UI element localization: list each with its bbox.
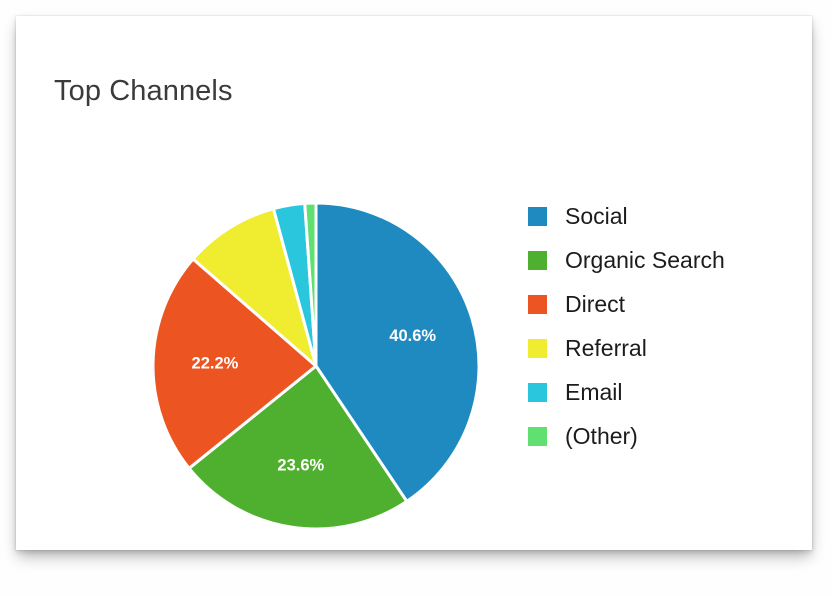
legend-item[interactable]: Direct <box>528 282 798 326</box>
legend-swatch-icon <box>528 383 547 402</box>
pie-chart-area: 40.6%23.6%22.2% SocialOrganic SearchDire… <box>16 16 812 550</box>
legend-item-label: Referral <box>565 337 647 360</box>
legend-item[interactable]: (Other) <box>528 414 798 458</box>
pie-slice-label: 22.2% <box>192 354 239 372</box>
legend-item-label: Social <box>565 205 628 228</box>
legend-item[interactable]: Social <box>528 194 798 238</box>
legend-item[interactable]: Organic Search <box>528 238 798 282</box>
legend-item-label: (Other) <box>565 425 638 448</box>
pie-chart-svg: 40.6%23.6%22.2% <box>152 202 480 530</box>
legend-item-label: Direct <box>565 293 625 316</box>
legend-item[interactable]: Referral <box>528 326 798 370</box>
chart-legend: SocialOrganic SearchDirectReferralEmail(… <box>528 194 798 458</box>
legend-item[interactable]: Email <box>528 370 798 414</box>
pie-chart: 40.6%23.6%22.2% <box>152 202 480 530</box>
pie-slice-label: 40.6% <box>389 327 436 345</box>
pie-slice-label: 23.6% <box>277 456 324 474</box>
legend-swatch-icon <box>528 295 547 314</box>
legend-item-label: Email <box>565 381 623 404</box>
legend-swatch-icon <box>528 339 547 358</box>
legend-swatch-icon <box>528 207 547 226</box>
report-page: Top Channels 40.6%23.6%22.2% SocialOrgan… <box>0 0 832 596</box>
legend-swatch-icon <box>528 427 547 446</box>
legend-item-label: Organic Search <box>565 249 725 272</box>
legend-swatch-icon <box>528 251 547 270</box>
